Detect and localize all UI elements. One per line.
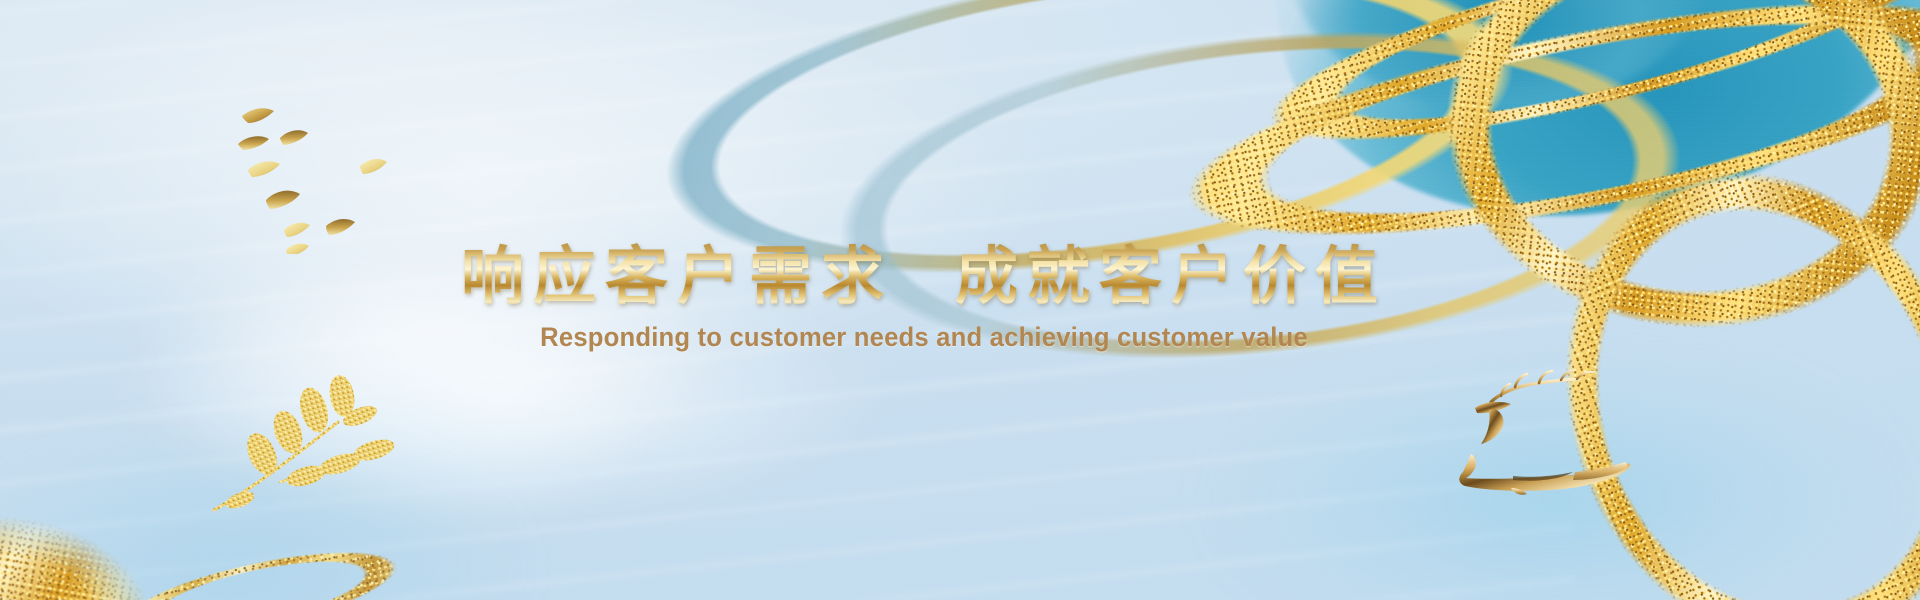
hero-text-block: 响应客户需求 成就客户价值 Responding to customer nee…	[0, 242, 1920, 353]
hero-title-chinese: 响应客户需求 成就客户价值	[0, 242, 1920, 310]
banner-hero: 响应客户需求 成就客户价值 Responding to customer nee…	[0, 0, 1920, 600]
golden-deer-icon	[1455, 368, 1655, 498]
flying-birds-icon	[238, 104, 428, 254]
hero-subtitle-english: Responding to customer needs and achievi…	[0, 322, 1870, 353]
gold-leaf-branch-icon	[210, 360, 430, 530]
